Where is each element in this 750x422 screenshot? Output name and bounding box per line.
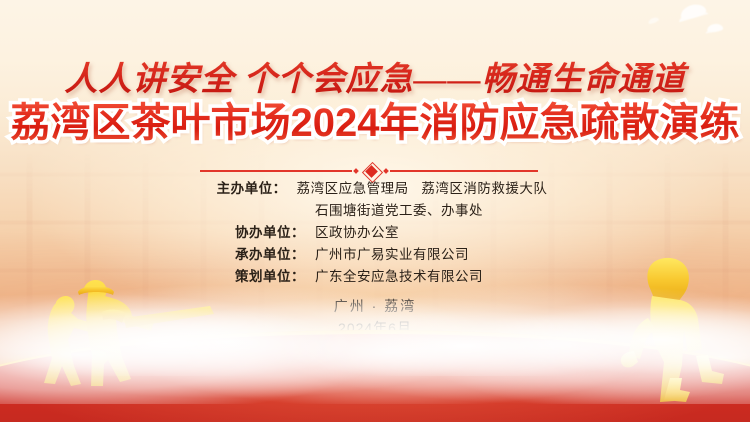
organizer-row-continuation: 石围塘街道党工委、办事处 [0,200,750,221]
organizer-row: 协办单位： 区政协办公室 [0,222,750,243]
diamond-ornament-icon [352,164,390,178]
divider-dot-left [353,168,359,174]
organizer-value: 广东全安应急技术有限公司 [315,266,529,287]
divider-line-right [390,170,538,172]
organizer-value: 荔湾区应急管理局 荔湾区消防救援大队 [297,178,548,199]
smoke-highlight-effect [0,304,750,376]
organizer-value-continuation: 石围塘街道党工委、办事处 [315,200,529,221]
organizer-label: 协办单位： [221,222,305,243]
divider [0,164,750,178]
organizer-label: 主办单位： [203,178,287,199]
organizer-value: 广州市广易实业有限公司 [315,244,529,265]
poster-slogan: 人人讲安全 个个会应急——畅通生命通道 [0,52,750,100]
page-title: 荔湾区茶叶市场2024年消防应急疏散演练 荔湾区茶叶市场2024年消防应急疏散演… [0,100,750,146]
organizer-row: 主办单位： 荔湾区应急管理局 荔湾区消防救援大队 [0,178,750,199]
organizer-label: 承办单位： [221,244,305,265]
divider-dot-right [383,168,389,174]
emergency-drill-poster: 人人讲安全 个个会应急——畅通生命通道 荔湾区茶叶市场2024年消防应急疏散演练… [0,0,750,422]
organizer-label: 策划单位： [221,266,305,287]
organizer-value: 区政协办公室 [315,222,529,243]
main-title-text: 荔湾区茶叶市场2024年消防应急疏散演练 [0,100,750,146]
divider-line-left [200,170,352,172]
